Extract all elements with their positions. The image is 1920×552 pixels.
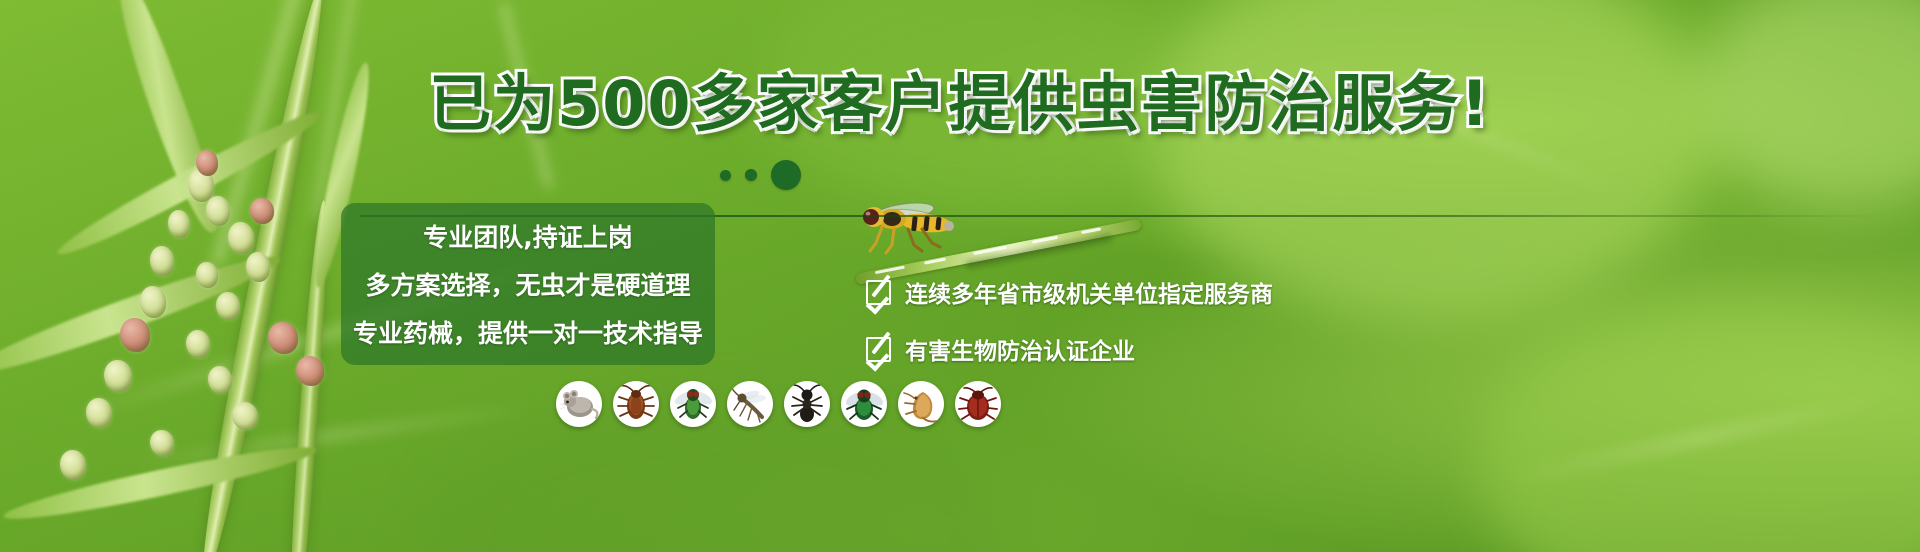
checklist-item: 连续多年省市级机关单位指定服务商 [866,275,1273,309]
selling-point-line-1: 专业团队,持证上岗 [423,218,633,254]
checklist-item: 有害生物防治认证企业 [866,332,1273,366]
selling-point-line-2: 多方案选择，无虫才是硬道理 [365,266,690,302]
banner-headline: 已为500多家客户提供虫害防治服务! [0,68,1920,140]
credentials-checklist: 连续多年省市级机关单位指定服务商 有害生物防治认证企业 [866,275,1273,366]
mouse-icon[interactable] [556,381,602,427]
bedbug-icon[interactable] [955,381,1001,427]
decorative-dots [720,160,840,190]
fly-icon[interactable] [670,381,716,427]
hoverfly-icon [848,195,968,265]
checkbox-checked-icon [866,280,891,305]
dot-small-1 [720,170,731,181]
checkbox-checked-icon [866,337,891,362]
selling-point-line-3: 专业药械，提供一对一技术指导 [353,314,703,350]
promo-banner: 已为500多家客户提供虫害防治服务! 专业团队,持证上岗 多方案选择，无虫才是硬… [0,0,1920,552]
mosquito-icon[interactable] [727,381,773,427]
banner-headline-text: 已为500多家客户提供虫害防治服务! [429,68,1491,140]
ant-icon[interactable] [784,381,830,427]
checklist-item-label: 有害生物防治认证企业 [905,332,1135,366]
dot-large [771,160,801,190]
housefly-icon[interactable] [841,381,887,427]
pest-types-row [556,381,1001,427]
flea-icon[interactable] [898,381,944,427]
dot-small-2 [745,169,757,181]
cockroach-icon[interactable] [613,381,659,427]
checklist-item-label: 连续多年省市级机关单位指定服务商 [905,275,1273,309]
selling-points-panel: 专业团队,持证上岗 多方案选择，无虫才是硬道理 专业药械，提供一对一技术指导 [341,203,715,365]
